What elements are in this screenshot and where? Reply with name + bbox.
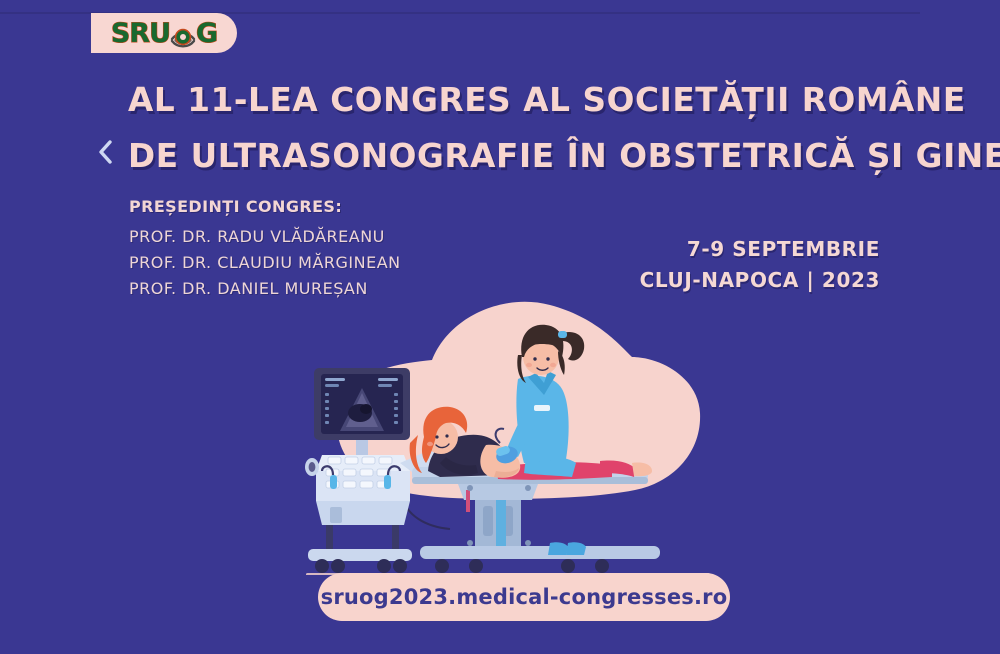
- page-title: AL 11-LEA CONGRES AL SOCIETĂȚII ROMÂNE D…: [128, 72, 918, 184]
- ultrasound-waves-icon: [170, 18, 196, 48]
- carousel-prev-button[interactable]: [88, 132, 124, 172]
- chevron-left-icon: [97, 138, 115, 166]
- website-url-button[interactable]: sruog2023.medical-congresses.ro: [318, 573, 730, 621]
- president-name: PROF. DR. RADU VLĂDĂREANU: [129, 224, 401, 250]
- obstetric-ultrasound-illustration: [300, 285, 720, 575]
- website-url-text: sruog2023.medical-congresses.ro: [321, 585, 728, 609]
- president-name: PROF. DR. CLAUDIU MĂRGINEAN: [129, 250, 401, 276]
- sruog-logo: SRU G: [111, 18, 217, 48]
- presidents-label: PREȘEDINȚI CONGRES:: [129, 197, 401, 216]
- sruog-logo-badge[interactable]: SRU G: [91, 13, 237, 53]
- logo-text-sru: SRU: [111, 20, 170, 47]
- congress-banner-slide: SRU G AL 11-LEA CONGRES AL SOCIETĂ: [0, 0, 1000, 654]
- event-dates: 7-9 SEPTEMBRIE: [640, 234, 880, 264]
- headline-line-1: AL 11-LEA CONGRES AL SOCIETĂȚII ROMÂNE: [128, 72, 910, 128]
- headline-line-2: DE ULTRASONOGRAFIE ÎN OBSTETRICĂ ȘI GINE…: [128, 128, 910, 184]
